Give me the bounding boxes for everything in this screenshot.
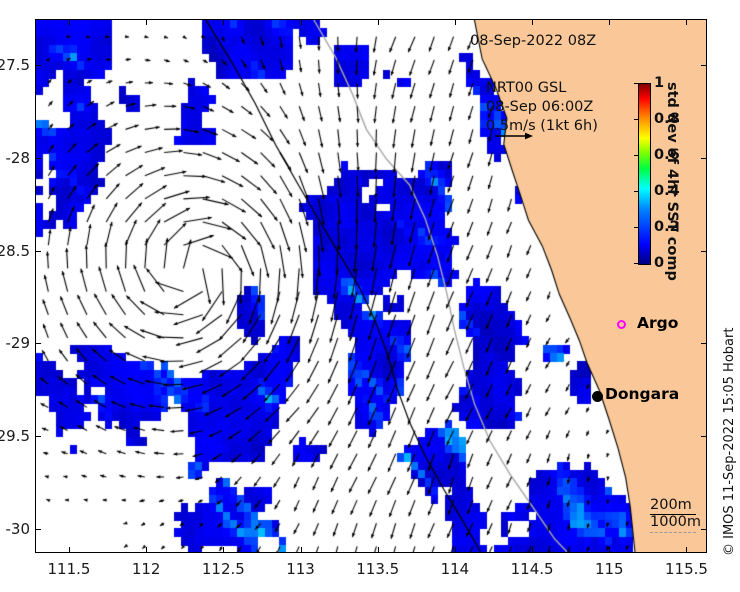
y-tick — [701, 158, 707, 159]
x-tick — [146, 19, 147, 25]
colorbar-tick — [634, 83, 638, 84]
colorbar-title: std dev of 4hr SST comp — [664, 82, 680, 264]
x-tick — [532, 19, 533, 25]
x-tick-label: 112 — [132, 560, 161, 578]
x-tick-label: 114 — [441, 560, 470, 578]
bathy-1000m-label: 1000m — [650, 514, 701, 531]
x-tick — [223, 19, 224, 25]
map-plot-area[interactable] — [35, 19, 707, 553]
x-tick — [69, 19, 70, 25]
bathy-1000m-line-sample — [650, 532, 696, 533]
y-tick — [35, 436, 41, 437]
x-tick — [455, 19, 456, 25]
sst-map-figure: 111.5112112.5113113.5114114.5115115.5-27… — [0, 0, 740, 592]
x-tick — [378, 547, 379, 553]
y-tick — [701, 343, 707, 344]
dongara-label: Dongara — [605, 385, 679, 403]
x-tick-label: 114.5 — [511, 560, 554, 578]
y-tick — [701, 529, 707, 530]
x-tick-label: 115 — [595, 560, 624, 578]
x-tick — [301, 19, 302, 25]
x-tick-label: 113 — [286, 560, 315, 578]
dongara-town-marker-icon — [592, 391, 603, 402]
x-tick — [455, 547, 456, 553]
source-model-label: NRT00 GSL — [486, 79, 598, 98]
colorbar-tick — [634, 119, 638, 120]
argo-float-marker-icon — [617, 320, 626, 329]
current-vector-overlay — [36, 20, 706, 552]
y-tick-label: -30 — [6, 520, 31, 538]
y-tick — [35, 529, 41, 530]
x-tick — [378, 19, 379, 25]
colorbar-tick-label: 0 — [654, 255, 664, 271]
x-tick — [146, 547, 147, 553]
argo-label: Argo — [637, 314, 678, 332]
reference-vector-arrow-icon — [494, 128, 534, 142]
y-tick — [701, 436, 707, 437]
x-tick-label: 111.5 — [47, 560, 90, 578]
copyright-credit: © IMOS 11-Sep-2022 15:05 Hobart — [722, 328, 737, 556]
y-tick — [701, 65, 707, 66]
y-tick — [35, 343, 41, 344]
y-tick — [701, 251, 707, 252]
x-tick — [69, 547, 70, 553]
x-tick — [609, 547, 610, 553]
x-tick — [686, 547, 687, 553]
bathy-200m-line-sample — [650, 514, 696, 515]
source-time-label: 08-Sep 06:00Z — [486, 98, 598, 117]
y-tick-label: -29 — [6, 334, 31, 352]
x-tick — [223, 547, 224, 553]
x-tick — [609, 19, 610, 25]
colorbar-tick — [634, 263, 638, 264]
x-tick-label: 113.5 — [356, 560, 399, 578]
x-tick — [532, 547, 533, 553]
bathy-200m-label: 200m — [650, 497, 701, 514]
colorbar-tick — [634, 227, 638, 228]
colorbar-gradient — [638, 83, 651, 265]
y-tick — [35, 158, 41, 159]
date-stamp-label: 08-Sep-2022 08Z — [470, 33, 596, 49]
colorbar-tick — [634, 191, 638, 192]
x-tick — [686, 19, 687, 25]
y-tick-label: -28 — [6, 149, 31, 167]
y-tick-label: -29.5 — [0, 427, 30, 445]
y-tick — [35, 65, 41, 66]
y-tick-label: -27.5 — [0, 56, 30, 74]
x-tick-label: 115.5 — [665, 560, 708, 578]
y-tick — [35, 251, 41, 252]
colorbar-tick — [634, 155, 638, 156]
colorbar-tick-label: 1 — [654, 75, 664, 91]
x-tick — [301, 547, 302, 553]
x-tick-label: 112.5 — [202, 560, 245, 578]
y-tick-label: -28.5 — [0, 242, 30, 260]
